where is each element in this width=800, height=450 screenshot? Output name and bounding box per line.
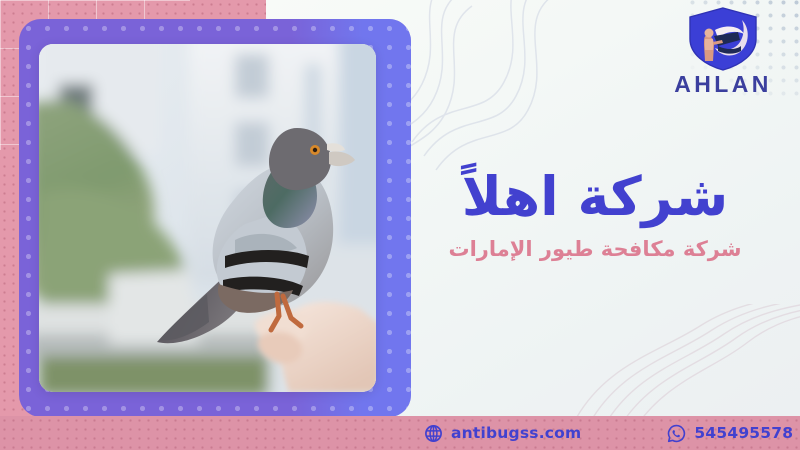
wave-lines-bottom-decoration <box>560 304 800 424</box>
website-contact[interactable]: antibugss.com <box>424 424 581 443</box>
page-subtitle: شركة مكافحة طيور الإمارات <box>420 237 770 262</box>
pigeon-photo <box>39 44 376 392</box>
page-title: شركة اهلاً <box>420 168 770 225</box>
whatsapp-icon <box>667 424 686 443</box>
website-label: antibugss.com <box>451 424 581 442</box>
globe-icon <box>424 424 443 443</box>
brand-logo[interactable]: AHLAN <box>668 6 778 96</box>
phone-label: 545495578 <box>694 424 793 442</box>
shield-pest-control-icon <box>684 6 762 72</box>
promo-banner: AHLAN شركة اهلاً شركة مكافحة طيور الإمار… <box>0 0 800 450</box>
headline-block: شركة اهلاً شركة مكافحة طيور الإمارات <box>420 168 770 262</box>
whatsapp-contact[interactable]: 545495578 <box>667 424 793 443</box>
brand-wordmark: AHLAN <box>668 73 778 96</box>
footer-bar: antibugss.com 545495578 <box>0 416 800 450</box>
